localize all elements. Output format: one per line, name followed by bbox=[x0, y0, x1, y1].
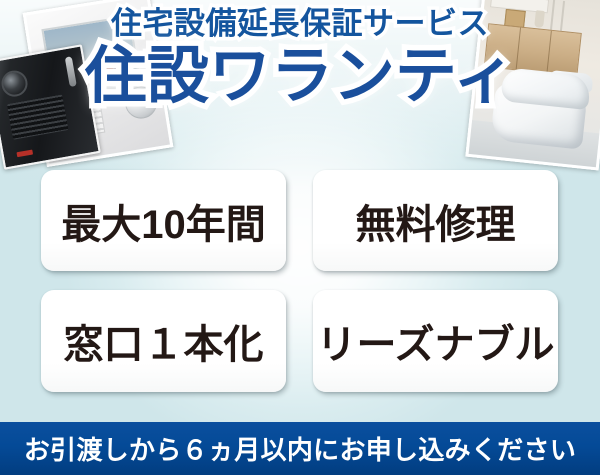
feature-box-reasonable: リーズナブル bbox=[313, 290, 558, 392]
camera-lens-icon bbox=[0, 69, 30, 99]
shelf-vase bbox=[534, 10, 545, 28]
feature-box-free-repair: 無料修理 bbox=[313, 170, 558, 271]
footer-notice-text: お引渡しから６ヵ月以内にお申し込みください bbox=[24, 430, 576, 467]
feature-box-grid: 最大10年間 無料修理 窓口１本化 リーズナブル bbox=[41, 170, 558, 392]
cabinet-divider-2 bbox=[546, 31, 551, 73]
wooden-cabinet bbox=[484, 23, 582, 77]
intercom-call-button bbox=[16, 150, 33, 158]
feature-label: 最大10年間 bbox=[61, 192, 266, 250]
feature-box-max-years: 最大10年間 bbox=[41, 170, 286, 271]
promo-banner: 住宅設備延長保証サービス 住設ワランティ 最大10年間 無料修理 窓口１本化 リ… bbox=[0, 0, 600, 475]
intercom-light-strip bbox=[65, 56, 77, 87]
wall-rod-right bbox=[560, 1, 565, 31]
footer-notice-bar: お引渡しから６ヵ月以内にお申し込みください bbox=[0, 422, 600, 475]
intercom-speaker-grille bbox=[7, 94, 68, 139]
feature-label: 無料修理 bbox=[356, 192, 516, 250]
cabinet-divider-1 bbox=[516, 28, 521, 70]
wall-rod-left bbox=[550, 0, 555, 30]
toilet-photo bbox=[465, 0, 600, 171]
feature-label: 窓口１本化 bbox=[64, 312, 264, 370]
feature-box-single-contact: 窓口１本化 bbox=[41, 290, 286, 392]
feature-label: リーズナブル bbox=[317, 312, 555, 370]
